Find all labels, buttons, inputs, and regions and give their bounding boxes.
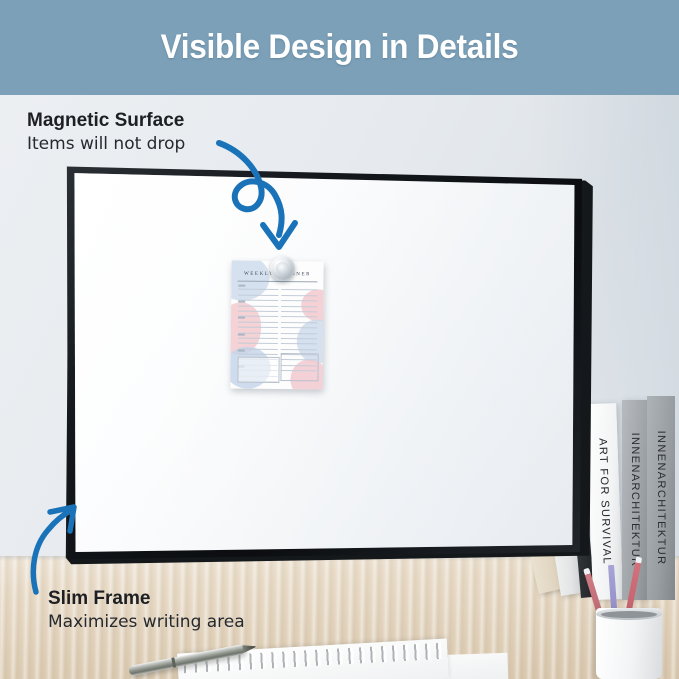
callout-title: Magnetic Surface: [27, 110, 185, 132]
callout-title: Slim Frame: [48, 588, 245, 610]
callout-subtitle: Items will not drop: [27, 134, 185, 154]
book-spine-text: INNENARCHITEKTUR: [655, 431, 667, 566]
planner-notes-box: [237, 357, 279, 383]
callout-slim-frame: Slim Frame Maximizes writing area: [48, 588, 245, 632]
book-spine-text: INNENARCHITEKTUR: [629, 433, 641, 568]
callout-magnetic-surface: Magnetic Surface Items will not drop: [27, 110, 185, 154]
pen-grip-band: [171, 657, 176, 667]
callout-subtitle: Maximizes writing area: [48, 612, 245, 632]
book-spine-text: ART FOR SURVIVAL: [596, 438, 612, 565]
product-detail-image: ART FOR SURVIVAL INNENARCHITEKTUR INNENA…: [0, 0, 679, 679]
pencil-cup: [596, 608, 662, 679]
header-banner: Visible Design in Details: [0, 0, 679, 95]
banner-title: Visible Design in Details: [161, 28, 519, 67]
planner-side-box: [280, 353, 318, 381]
planner-divider: [237, 281, 317, 283]
pencil-cup-rim: [596, 608, 662, 620]
book-innenarchitektur-2: INNENARCHITEKTUR: [647, 396, 675, 600]
whiteboard: [55, 160, 595, 570]
whiteboard-glare: [55, 160, 595, 570]
round-magnet: [270, 256, 295, 281]
